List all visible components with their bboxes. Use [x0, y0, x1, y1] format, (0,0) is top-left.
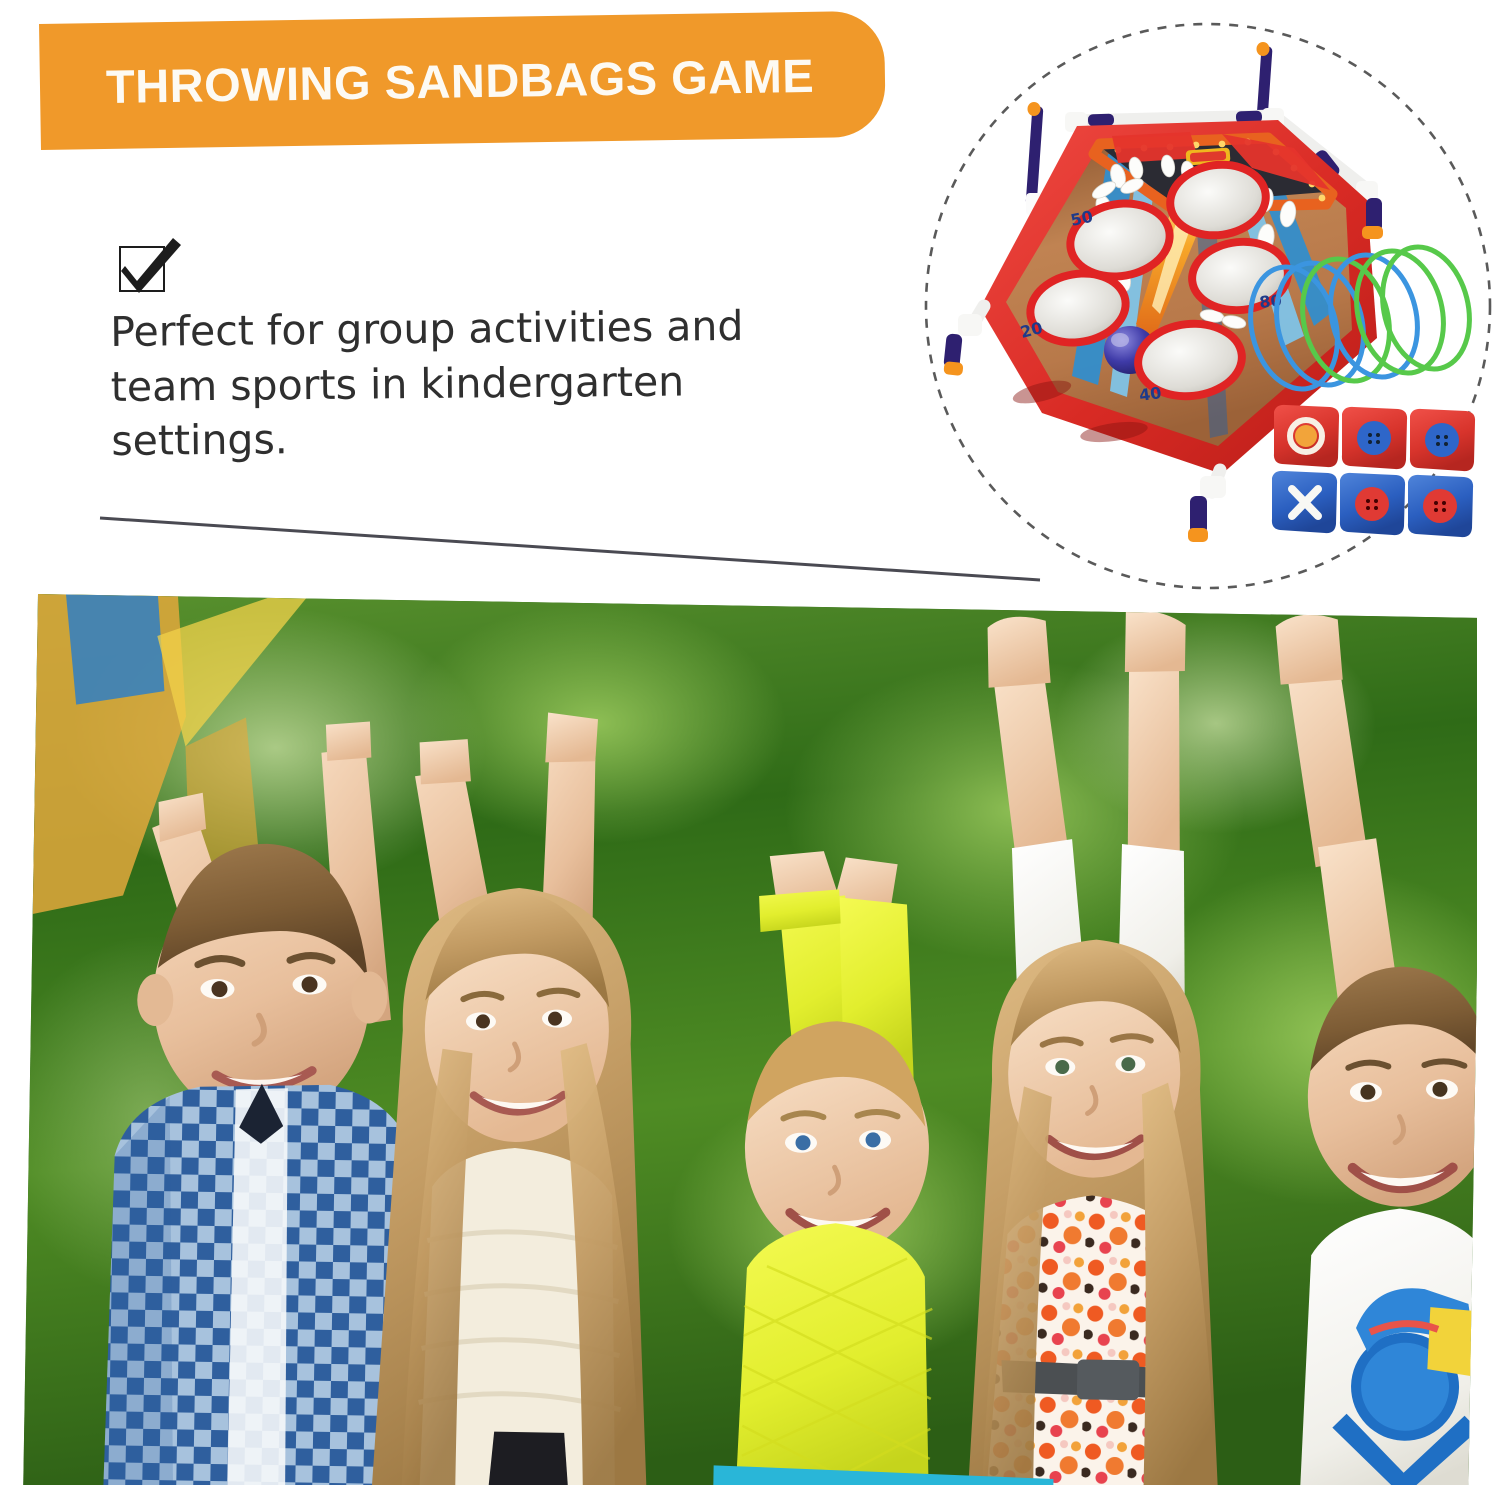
lifestyle-photo	[23, 594, 1477, 1485]
bean-bag	[1408, 475, 1473, 537]
bean-bag	[1342, 407, 1407, 469]
bean-bag-set	[1272, 405, 1475, 537]
title-banner: THROWING SANDBAGS GAME	[39, 11, 886, 150]
product-inset: 50 20 40 80	[922, 8, 1494, 628]
bean-bag	[1272, 471, 1337, 533]
product-feature-page: THROWING SANDBAGS GAME Perfect for group…	[0, 0, 1500, 1485]
score-label-40: 40	[1138, 383, 1163, 405]
checked-checkbox-icon	[115, 236, 185, 298]
toss-board-assembly: 50 20 40 80	[943, 42, 1383, 542]
bean-bag	[1410, 409, 1475, 471]
lifestyle-photo-frame	[22, 586, 1477, 1485]
page-title: THROWING SANDBAGS GAME	[106, 51, 815, 109]
bean-bag	[1274, 405, 1339, 467]
feature-description: Perfect for group activities and team sp…	[110, 298, 832, 468]
bean-bag	[1340, 473, 1405, 535]
checkmark-glyph	[115, 236, 185, 298]
